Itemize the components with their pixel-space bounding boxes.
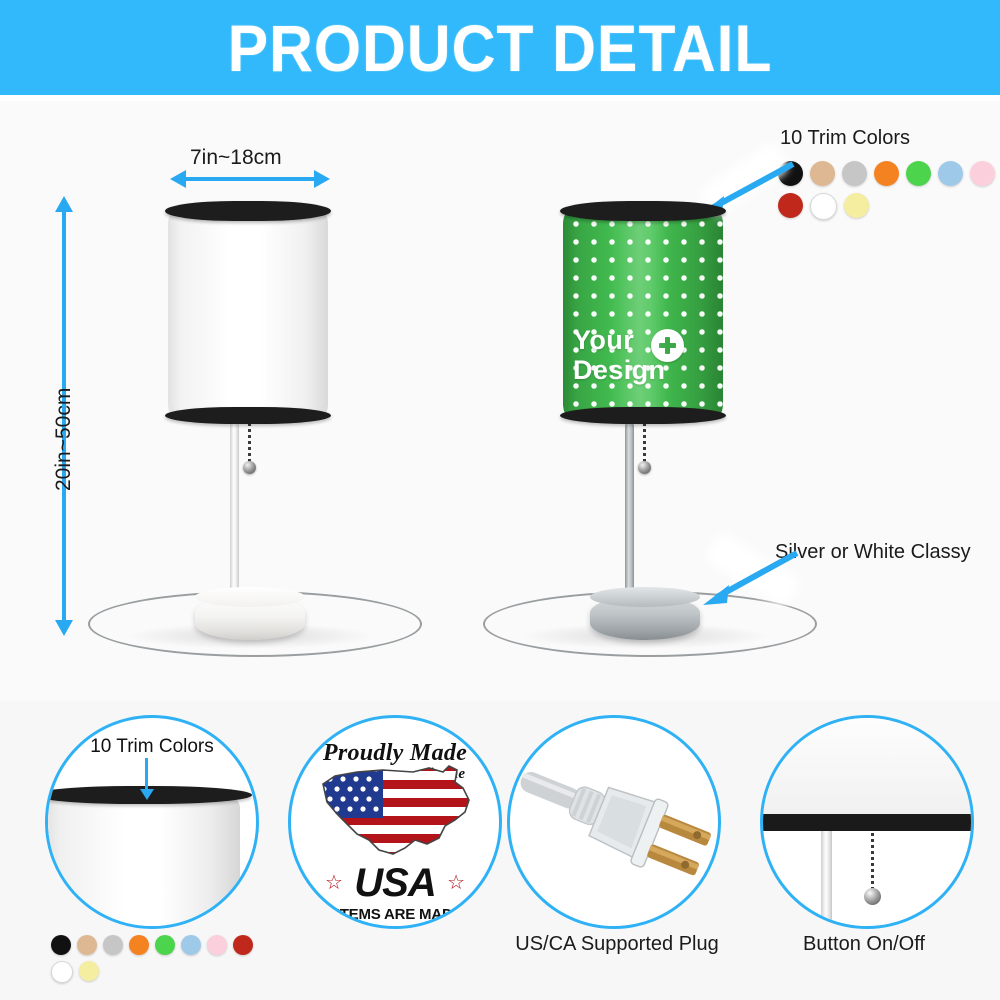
trim-colors-callout-label: 10 Trim Colors: [780, 127, 910, 150]
width-dimension-label: 7in~18cm: [190, 146, 282, 170]
swatch-tan[interactable]: [810, 161, 835, 186]
switch-pull-chain[interactable]: [871, 833, 874, 891]
feature-trim-colors: 10 Trim Colors: [45, 715, 260, 995]
classy-arrow: [695, 541, 805, 611]
feature-circle: Proudly Made in the: [288, 715, 502, 929]
usa-star-right: ☆: [447, 870, 465, 895]
your-design-text: Your Design: [573, 325, 665, 385]
pull-chain-ball[interactable]: [243, 461, 256, 474]
feature-circle: 10 Trim Colors: [45, 715, 259, 929]
lampshade-surface: [168, 209, 328, 419]
width-dimension-arrow: [185, 177, 315, 181]
plus-icon[interactable]: [651, 329, 684, 362]
design-line-2: Design: [573, 355, 665, 385]
feature-made-in-usa: Proudly Made in the: [288, 715, 503, 995]
power-plug-icon: [510, 718, 718, 926]
lampshade-bottom-trim: [165, 407, 331, 424]
usa-badge: Proudly Made in the: [291, 718, 499, 926]
height-dimension-label: 20in~50cm: [52, 388, 76, 491]
pull-chain-ball[interactable]: [638, 461, 651, 474]
switch-caption: Button On/Off: [760, 933, 968, 956]
polka-dot-pattern: [563, 209, 723, 419]
swatch-orange[interactable]: [129, 935, 149, 955]
lamp-base-silver: [590, 596, 700, 640]
switch-lamp-pole: [821, 831, 832, 929]
swatch-orange[interactable]: [874, 161, 899, 186]
switch-pull-chain-ball[interactable]: [864, 888, 881, 905]
swatch-light-blue[interactable]: [181, 935, 201, 955]
usa-flag-map-icon: [317, 762, 479, 864]
pull-chain[interactable]: [643, 423, 646, 465]
swatch-pink[interactable]: [970, 161, 995, 186]
swatch-green[interactable]: [155, 935, 175, 955]
feature-circle: [760, 715, 974, 929]
lampshade-top-trim: [165, 201, 331, 221]
lampshade-bottom-trim: [560, 407, 726, 424]
swatch-silver[interactable]: [842, 161, 867, 186]
feature-swatch-row: [51, 935, 266, 983]
lamp-white: [160, 201, 340, 641]
swatch-tan[interactable]: [77, 935, 97, 955]
page-header-banner: PRODUCT DETAIL: [0, 0, 1000, 95]
trim-colors-label: 10 Trim Colors: [48, 736, 256, 758]
trim-colors-swatch-row: [778, 161, 1000, 220]
trim-pointer-arrow: [145, 758, 148, 790]
mini-lampshade: [45, 796, 240, 929]
usa-main-text: USA: [291, 861, 499, 906]
swatch-light-blue[interactable]: [938, 161, 963, 186]
lamp-base-top: [195, 587, 305, 607]
switch-lampshade: [760, 715, 974, 818]
lampshade-top-trim: [560, 201, 726, 221]
swatch-pink[interactable]: [207, 935, 227, 955]
swatch-black[interactable]: [51, 935, 71, 955]
lamp-base-white: [195, 596, 305, 640]
lampshade-green: Your Design: [563, 209, 723, 419]
swatch-yellow[interactable]: [844, 193, 869, 218]
main-product-stage: 20in~50cm 7in~18cm: [0, 101, 1000, 701]
lamp-base-top: [590, 587, 700, 607]
plug-caption: US/CA Supported Plug: [492, 933, 742, 956]
lampshade-white: [168, 209, 328, 419]
swatch-silver[interactable]: [103, 935, 123, 955]
swatch-green[interactable]: [906, 161, 931, 186]
usa-subtext: ALL ITEMS ARE MADE TO ORDER!: [291, 906, 499, 929]
switch-lampshade-trim: [760, 814, 974, 831]
swatch-yellow[interactable]: [79, 961, 99, 981]
swatch-white[interactable]: [51, 961, 73, 983]
swatch-white[interactable]: [810, 193, 837, 220]
swatch-red[interactable]: [233, 935, 253, 955]
feature-circle: [507, 715, 721, 929]
pull-chain[interactable]: [248, 423, 251, 465]
product-detail-page: PRODUCT DETAIL 20in~50cm 7in~18cm: [0, 0, 1000, 1000]
feature-plug: US/CA Supported Plug: [507, 715, 742, 995]
page-title: PRODUCT DETAIL: [228, 15, 773, 81]
feature-switch: Button On/Off: [760, 715, 975, 995]
